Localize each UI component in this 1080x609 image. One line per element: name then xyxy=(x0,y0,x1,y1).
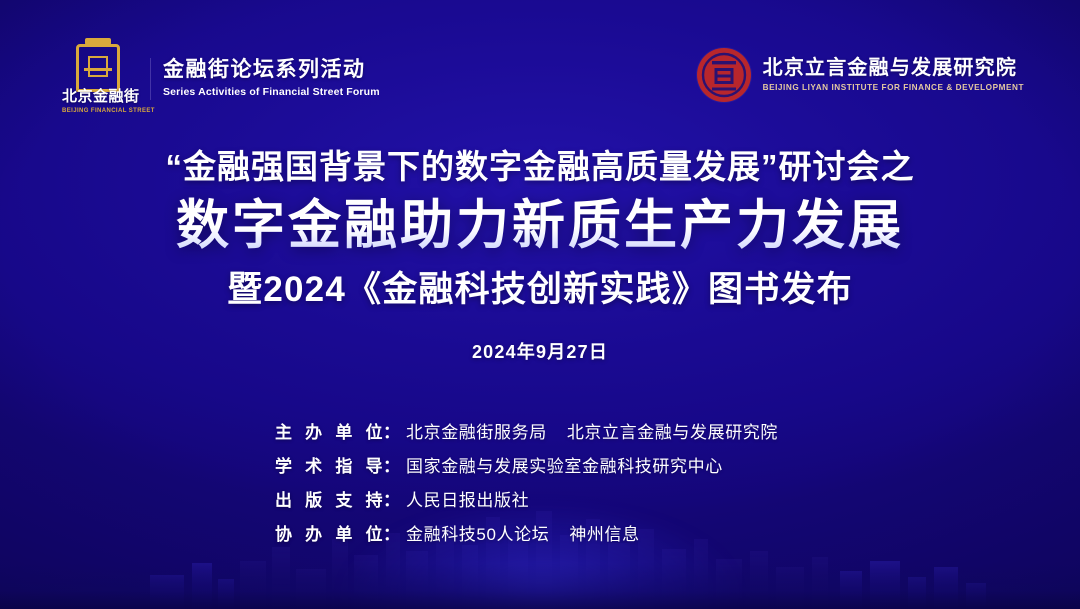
logo-liyan-institute: 北京立言金融与发展研究院 BEIJING LIYAN INSTITUTE FOR… xyxy=(697,48,1024,102)
credit-row: 学术指导 ： 国家金融与发展实验室金融科技研究中心 xyxy=(275,452,805,477)
left-mark-cn: 北京金融街 xyxy=(62,89,136,104)
event-subtitle-line: “金融强国背景下的数字金融高质量发展”研讨会之 xyxy=(0,146,1080,187)
credit-value-part: 北京金融街服务局 xyxy=(406,423,547,442)
credit-row: 主办单位 ： 北京金融街服务局北京立言金融与发展研究院 xyxy=(275,418,805,443)
logo-left-text: 金融街论坛系列活动 Series Activities of Financial… xyxy=(150,58,380,99)
credit-value: 国家金融与发展实验室金融科技研究中心 xyxy=(406,452,723,477)
credit-value-part: 北京立言金融与发展研究院 xyxy=(567,423,778,442)
logo-row: 北京金融街 BEIJING FINANCIAL STREET 金融街论坛系列活动… xyxy=(0,42,1080,122)
credit-label: 主办单位 xyxy=(275,418,383,443)
event-book-launch-line: 暨2024《金融科技创新实践》图书发布 xyxy=(0,268,1080,312)
left-mark-en: BEIJING FINANCIAL STREET xyxy=(62,108,136,114)
event-main-title: 数字金融助力新质生产力发展 xyxy=(0,195,1080,258)
forum-series-title-cn: 金融街论坛系列活动 xyxy=(163,58,380,83)
liyan-institute-round-seal-icon xyxy=(697,48,751,102)
credit-label: 学术指导 xyxy=(275,452,383,477)
logo-financial-street: 北京金融街 BEIJING FINANCIAL STREET 金融街论坛系列活动… xyxy=(62,42,380,116)
forum-series-title-en: Series Activities of Financial Street Fo… xyxy=(163,86,380,100)
credit-colon: ： xyxy=(383,452,400,477)
credit-value-part: 金融科技50人论坛 xyxy=(406,525,549,544)
credit-value: 北京金融街服务局北京立言金融与发展研究院 xyxy=(406,418,778,443)
credits-block: 主办单位 ： 北京金融街服务局北京立言金融与发展研究院 学术指导 ： 国家金融与… xyxy=(0,418,1080,545)
institute-name-en: BEIJING LIYAN INSTITUTE FOR FINANCE & DE… xyxy=(763,83,1024,94)
credit-colon: ： xyxy=(383,520,400,545)
credit-colon: ： xyxy=(383,486,400,511)
title-block: “金融强国背景下的数字金融高质量发展”研讨会之 数字金融助力新质生产力发展 暨2… xyxy=(0,146,1080,364)
beijing-financial-street-seal-icon: 北京金融街 BEIJING FINANCIAL STREET xyxy=(62,42,136,116)
credit-colon: ： xyxy=(383,418,400,443)
credit-row: 协办单位 ： 金融科技50人论坛神州信息 xyxy=(275,520,805,545)
credit-label: 协办单位 xyxy=(275,520,383,545)
credit-row: 出版支持 ： 人民日报出版社 xyxy=(275,486,805,511)
credit-value: 金融科技50人论坛神州信息 xyxy=(406,520,640,545)
credit-label: 出版支持 xyxy=(275,486,383,511)
credit-value: 人民日报出版社 xyxy=(406,486,529,511)
logo-right-text: 北京立言金融与发展研究院 BEIJING LIYAN INSTITUTE FOR… xyxy=(763,56,1024,94)
event-poster: 北京金融街 BEIJING FINANCIAL STREET 金融街论坛系列活动… xyxy=(0,0,1080,609)
event-date: 2024年9月27日 xyxy=(0,338,1080,364)
institute-name-cn: 北京立言金融与发展研究院 xyxy=(763,56,1024,80)
credit-value-part: 神州信息 xyxy=(569,525,639,544)
